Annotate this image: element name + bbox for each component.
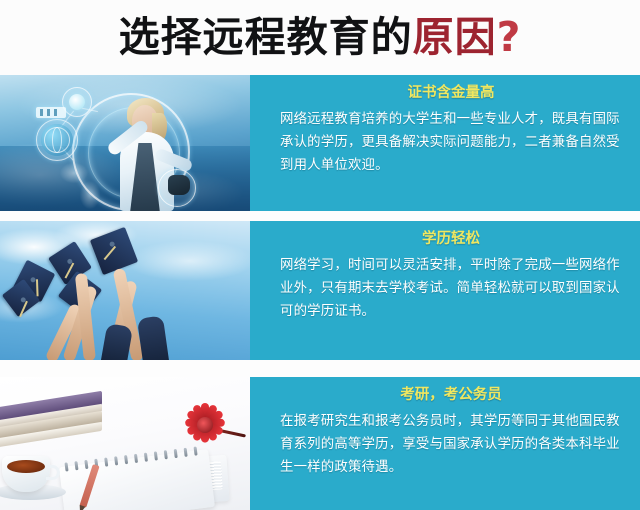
chip-icon: [36, 107, 66, 118]
section-body: 网络远程教育培养的大学生和一些专业人才，既具有国际承认的学历，更具备解决实际问题…: [280, 107, 622, 176]
text-panel-postgrad-civil-service: 考研，考公务员 在报考研究生和报考公务员时，其学历等同于其他国民教育系列的高等学…: [250, 377, 640, 510]
tea-surface: [7, 460, 45, 473]
section-heading: 考研，考公务员: [280, 386, 622, 405]
section-easy-degree: 学历轻松 网络学习，时间可以灵活安排，平时除了完成一些网络作业外，只有期末去学校…: [0, 221, 640, 360]
page-title-highlight: 原因: [413, 13, 497, 61]
section-body: 在报考研究生和报考公务员时，其学历等同于其他国民教育系列的高等学历，享受与国家承…: [280, 409, 622, 478]
red-flower-icon: [182, 401, 228, 447]
photo-graduates-throwing-caps: [0, 221, 250, 360]
page-title-main: 选择远程教育的: [119, 13, 413, 61]
flower-core: [197, 417, 213, 433]
spiral-binding: [64, 446, 202, 472]
page-title: 选择远程教育的原因?: [0, 0, 640, 75]
page-title-question-mark: ?: [497, 13, 522, 61]
graduation-cap-icon: [0, 277, 42, 320]
infographic-poster: 选择远程教育的原因?: [0, 0, 640, 510]
globe-icon: [41, 124, 73, 156]
stacked-books: [0, 390, 104, 453]
text-panel-easy-degree: 学历轻松 网络学习，时间可以灵活安排，平时除了完成一些网络作业外，只有期末去学校…: [250, 221, 640, 360]
section-heading: 学历轻松: [280, 230, 622, 249]
page-title-text: 选择远程教育的原因?: [119, 17, 522, 58]
section-body: 网络学习，时间可以灵活安排，平时除了完成一些网络作业外，只有期末去学校考试。简单…: [280, 253, 622, 322]
photo-business-woman-digital-globe: [0, 75, 250, 211]
cup-handle: [46, 465, 60, 480]
text-panel-certificate-value: 证书含金量高 网络远程教育培养的大学生和一些专业人才，既具有国际承认的学历，更具…: [250, 75, 640, 211]
section-certificate-value: 证书含金量高 网络远程教育培养的大学生和一些专业人才，既具有国际承认的学历，更具…: [0, 75, 640, 211]
hand-icon: [168, 175, 190, 195]
section-postgrad-civil-service: 考研，考公务员 在报考研究生和报考公务员时，其学历等同于其他国民教育系列的高等学…: [0, 377, 640, 510]
lightbulb-icon: [69, 94, 85, 110]
photo-books-coffee-notebook-flower: [0, 377, 250, 510]
section-heading: 证书含金量高: [280, 84, 622, 103]
